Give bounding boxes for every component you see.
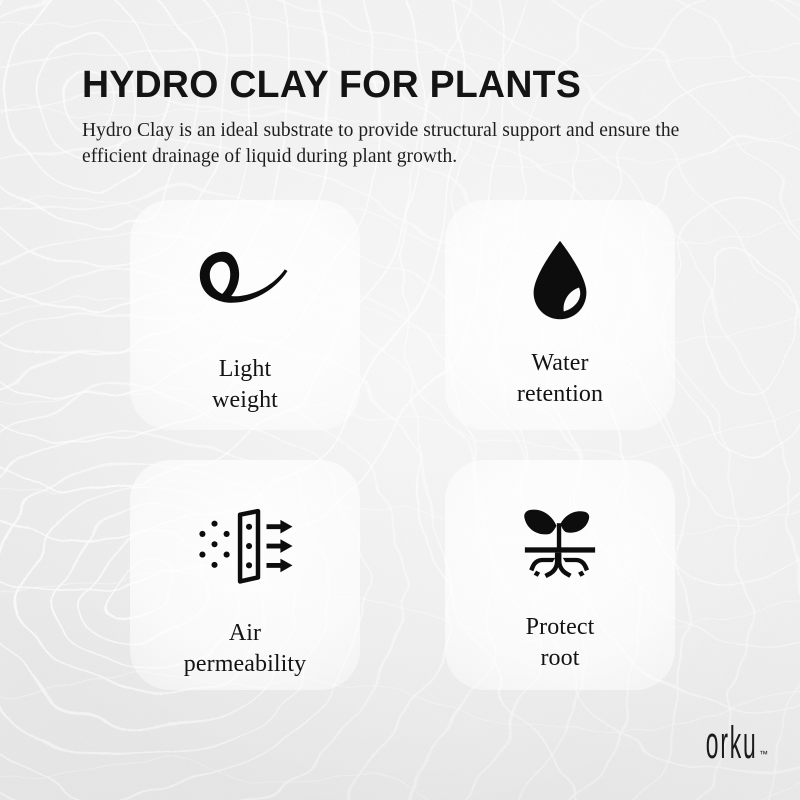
poster-canvas: HYDRO CLAY FOR PLANTS Hydro Clay is an i… [0,0,800,800]
plant-root-icon [505,496,615,588]
trademark-symbol: ™ [759,750,768,759]
feature-card-water-retention[interactable]: Water retention [445,200,675,430]
brand-name: orku [706,724,758,762]
header: HYDRO CLAY FOR PLANTS Hydro Clay is an i… [82,66,732,169]
feature-card-protect-root[interactable]: Protect root [445,460,675,690]
water-drop-icon [505,234,615,326]
feather-icon [190,238,300,330]
page-title: HYDRO CLAY FOR PLANTS [82,66,722,104]
feature-card-label: Air permeability [184,618,307,680]
feature-card-label: Water retention [517,348,603,410]
air-permeability-icon [190,500,300,592]
feature-card-label: Protect root [526,612,595,674]
feature-card-light-weight[interactable]: Light weight [130,200,360,430]
feature-card-label: Light weight [212,354,278,416]
feature-card-air-permeability[interactable]: Air permeability [130,460,360,690]
page-subtitle: Hydro Clay is an ideal substrate to prov… [82,118,722,169]
feature-grid: Light weight Water retention [130,200,675,690]
brand-logo: orku ™ [658,726,768,762]
